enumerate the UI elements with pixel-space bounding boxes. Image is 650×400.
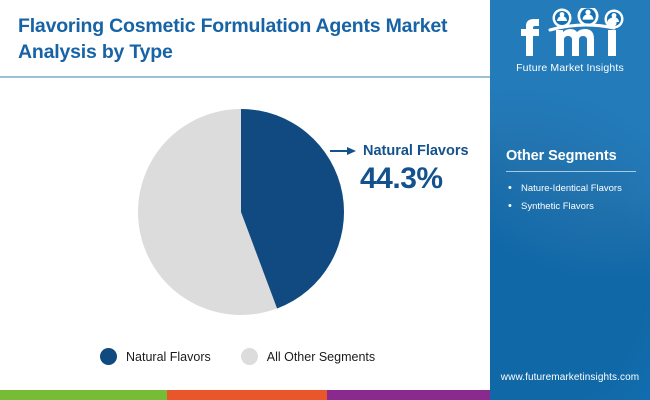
bar-segment-green [0,390,167,400]
bar-segment-purple [327,390,490,400]
callout-row: Natural Flavors [330,143,490,159]
circle-swatch-icon [100,348,117,365]
website-url: www.futuremarketinsights.com [490,372,650,383]
callout-value: 44.3% [360,162,490,196]
legend-item-all-other-segments: All Other Segments [241,348,375,365]
callout-label: Natural Flavors [363,143,469,159]
other-segments-block: Other Segments Nature-Identical Flavors … [506,148,636,218]
page-title: Flavoring Cosmetic Formulation Agents Ma… [18,14,478,65]
bar-segment-orange [167,390,327,400]
other-segments-divider [506,171,636,172]
bottom-color-bar [0,390,490,400]
other-segments-list: Nature-Identical Flavors Synthetic Flavo… [506,182,636,214]
infographic-canvas: Flavoring Cosmetic Formulation Agents Ma… [0,0,650,400]
brand-side-panel: Future Market Insights Other Segments Na… [490,0,650,400]
list-item: Nature-Identical Flavors [506,182,636,196]
fmi-logo-icon [504,8,636,60]
legend-label: All Other Segments [267,350,375,364]
legend-label: Natural Flavors [126,350,211,364]
title-divider [0,76,490,78]
arrow-right-icon [330,145,356,157]
logo-tagline: Future Market Insights [490,62,650,74]
fmi-logo: Future Market Insights [490,8,650,74]
other-segments-title: Other Segments [506,148,636,164]
chart-legend: Natural Flavors All Other Segments [100,348,375,365]
legend-item-natural-flavors: Natural Flavors [100,348,211,365]
list-item: Synthetic Flavors [506,200,636,214]
callout-block: Natural Flavors 44.3% [330,143,490,196]
circle-swatch-icon [241,348,258,365]
title-block: Flavoring Cosmetic Formulation Agents Ma… [18,14,478,65]
pie-chart [138,109,344,315]
